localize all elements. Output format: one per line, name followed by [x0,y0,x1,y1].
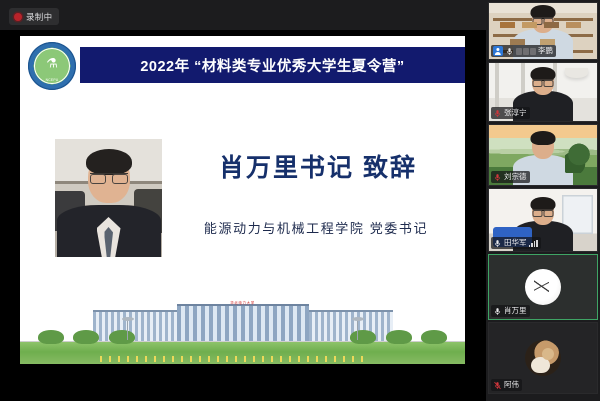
microphone-icon [493,173,502,182]
campus-building-center [177,304,309,342]
campus-tree [386,330,412,344]
slide-subheadline: 能源动力与机械工程学院 党委书记 [170,218,462,237]
portrait-glasses-icon [90,173,128,182]
participant-name-badge: 肖万里 [491,305,530,317]
speaker-portrait-photo [55,139,162,257]
microphone-icon [493,307,502,316]
host-person-icon [493,46,503,56]
avatar [525,340,561,376]
person-glasses-icon [533,79,554,85]
participant-name-badge: 阿伟 [491,379,522,391]
participant-tile[interactable]: 刘宗德 [488,124,598,186]
microphone-icon [505,47,514,56]
recording-indicator[interactable]: 录制中 [9,8,59,25]
slide-headline: 肖万里书记 致辞 [178,148,458,184]
participant-tile[interactable]: 李鹏 [488,2,598,60]
record-dot-icon [14,13,22,21]
seal-subtext: NCEPU [46,78,59,82]
recording-label: 录制中 [26,11,52,23]
meeting-window: 录制中 ⚗ NCEPU 2022年 “材料类专业优秀大学生夏令营” [0,0,600,401]
shared-screen-stage[interactable]: ⚗ NCEPU 2022年 “材料类专业优秀大学生夏令营” [0,30,486,401]
participant-name: 肖万里 [504,305,527,317]
person-glasses-icon [533,209,554,215]
campus-street-lamp [357,320,358,340]
campus-panorama-image: 华北电力大学 [20,294,465,364]
microphone-muted-icon [493,381,502,390]
participant-name-badge: 李鹏 [491,45,556,57]
participant-tile-active-speaker[interactable]: 肖万里 [488,254,598,320]
slide-title-bar: 2022年 “材料类专业优秀大学生夏令营” [80,47,465,83]
participant-tile[interactable]: 阿伟 [488,322,598,394]
university-seal-icon: ⚗ NCEPU [28,42,76,90]
campus-street-lamp [127,320,128,340]
participant-name: 李鹏 [538,45,553,57]
microphone-icon [493,109,502,118]
campus-tree [38,330,64,344]
campus-tree [421,330,447,344]
slide-title: 2022年 “材料类专业优秀大学生夏令营” [140,55,404,76]
participant-name: 刘宗德 [504,171,527,183]
participant-name-badge: 田华军 [491,237,541,249]
campus-flowerbed [100,356,367,362]
participant-name: 田华军 [504,237,527,249]
video-thumbs-icon [516,48,536,55]
portrait-hair [86,149,132,175]
participant-name-badge: 刘宗德 [491,171,530,183]
microphone-icon [493,239,502,248]
person-glasses-icon [533,17,554,23]
participant-name: 阿伟 [504,379,519,391]
participant-tile[interactable]: 田华军 [488,188,598,252]
participant-name: 张淳宁 [504,107,527,119]
avatar [525,269,561,305]
campus-tree [350,330,376,344]
participant-tile[interactable]: 张淳宁 [488,62,598,122]
campus-building-sign: 华北电力大学 [230,301,255,306]
presentation-slide: ⚗ NCEPU 2022年 “材料类专业优秀大学生夏令营” [20,36,465,364]
seal-emblem-glyph: ⚗ [46,58,58,71]
campus-tree [109,330,135,344]
participant-name-badge: 张淳宁 [491,107,530,119]
person-hair [531,131,556,145]
campus-tree [73,330,99,344]
signal-strength-icon [529,240,538,247]
participant-filmstrip[interactable]: 李鹏 张淳宁 [486,0,600,401]
